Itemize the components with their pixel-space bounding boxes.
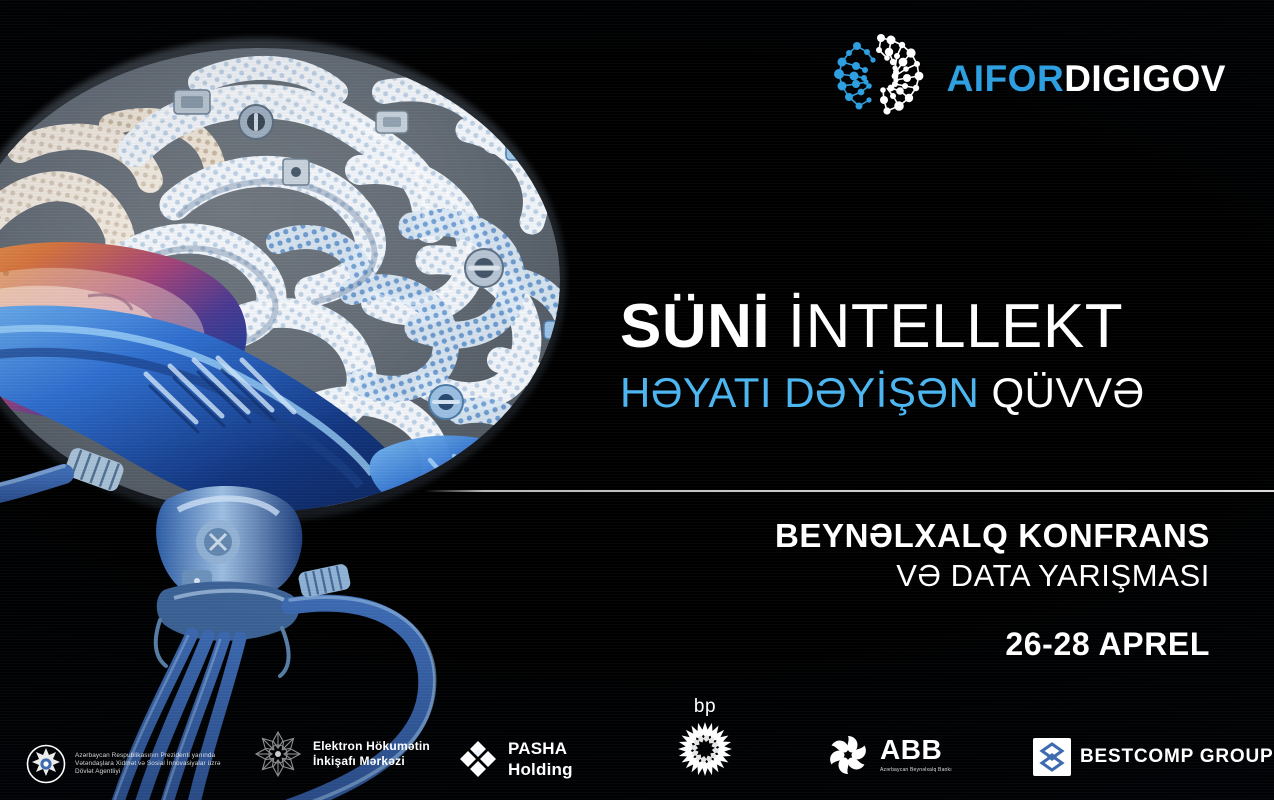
brand-name-part1: AIFOR (947, 58, 1065, 99)
sponsor-asan-xidmet[interactable]: Azərbaycan Respublikasının Prezidenti ya… (26, 744, 220, 784)
sponsor-logo-row: Azərbaycan Respublikasının Prezidenti ya… (0, 696, 1274, 800)
event-type-line-1: BEYNƏLXALQ KONFRANS (775, 516, 1210, 556)
sponsor-abb-wordmark: ABB (880, 736, 952, 764)
pinwheel-diamond-icon (457, 738, 499, 780)
snowflake-star-icon (252, 728, 304, 780)
eight-point-star-emblem-icon (26, 744, 66, 784)
brand-logo[interactable]: AIFORDIGIGOV (829, 26, 1226, 130)
sponsor-abb-text: ABB Azərbaycan Beynəlxalq Bankı (880, 736, 952, 773)
sponsor-pasha-text: PASHA Holding (508, 738, 573, 781)
sponsor-ehdc-line-2: İnkişafı Mərkəzi (313, 754, 430, 769)
headline-line-2: HƏYATI DƏYİŞƏN QÜVVƏ (620, 372, 1226, 414)
sponsor-abb[interactable]: ABB Azərbaycan Beynəlxalq Bankı (825, 732, 952, 778)
robotic-brain-artwork (0, 30, 620, 800)
sponsor-asan-text: Azərbaycan Respublikasının Prezidenti ya… (75, 752, 220, 776)
sponsor-ehdc-text: Elektron Hökumətin İnkişafı Mərkəzi (313, 739, 430, 769)
sponsor-bp[interactable]: bp (676, 696, 734, 778)
subhead-block: BEYNƏLXALQ KONFRANS VƏ DATA YARIŞMASI 26… (775, 516, 1210, 663)
sponsor-bestcomp-group[interactable]: BESTCOMP GROUP (1033, 738, 1273, 776)
brand-name-part2: DIGIGOV (1064, 58, 1226, 99)
network-nodes-circle-icon (829, 26, 933, 130)
sponsor-bp-wordmark: bp (694, 696, 716, 718)
headline-block: SÜNİ İNTELLEKT HƏYATI DƏYİŞƏN QÜVVƏ (620, 296, 1226, 414)
interlocking-square-icon (1033, 738, 1071, 776)
sponsor-abb-subtitle: Azərbaycan Beynəlxalq Bankı (880, 767, 952, 773)
sponsor-ehdc-line-1: Elektron Hökumətin (313, 739, 430, 754)
headline-white-word: QÜVVƏ (979, 369, 1144, 416)
headline-bold-word: SÜNİ (620, 292, 770, 361)
sponsor-asan-line-2: Vətəndaşlara Xidmət və Sosial İnnovasiya… (75, 760, 220, 768)
headline-accent-phrase: HƏYATI DƏYİŞƏN (620, 369, 979, 416)
sponsor-pasha-line-1: PASHA (508, 738, 573, 759)
sponsor-pasha-line-2: Holding (508, 759, 573, 780)
headline-light-word: İNTELLEKT (770, 292, 1123, 361)
horizontal-divider (424, 490, 1274, 492)
headline-line-1: SÜNİ İNTELLEKT (620, 296, 1226, 358)
sponsor-pasha-holding[interactable]: PASHA Holding (457, 738, 573, 781)
sponsor-asan-line-3: Dövlət Agentliyi (75, 768, 220, 776)
sponsor-bestcomp-text: BESTCOMP GROUP (1080, 745, 1273, 769)
event-type-line-2: VƏ DATA YARIŞMASI (775, 556, 1210, 596)
conference-poster: AIFORDIGIGOV SÜNİ İNTELLEKT HƏYATI DƏYİŞ… (0, 0, 1274, 800)
event-dates: 26-28 APREL (775, 626, 1210, 663)
sponsor-asan-line-1: Azərbaycan Respublikasının Prezidenti ya… (75, 752, 220, 760)
sponsor-ehdc[interactable]: Elektron Hökumətin İnkişafı Mərkəzi (252, 728, 430, 780)
helios-sunburst-icon (676, 720, 734, 778)
swirl-petals-icon (825, 732, 871, 778)
brand-wordmark: AIFORDIGIGOV (947, 60, 1226, 97)
